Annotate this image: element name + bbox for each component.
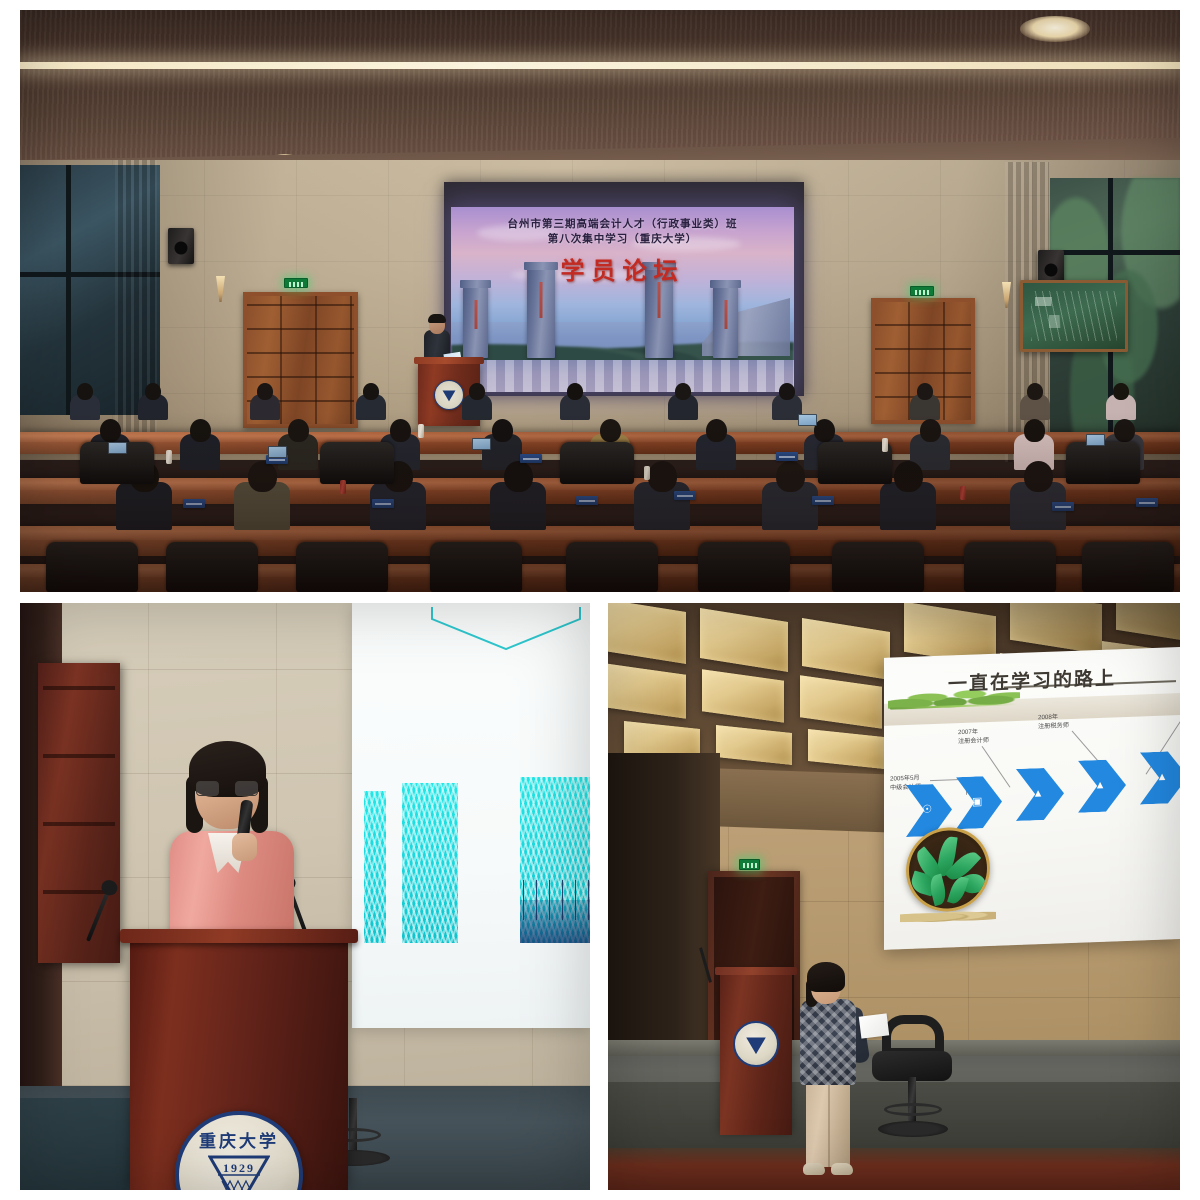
attendee-head xyxy=(1027,383,1043,400)
attendee-head xyxy=(648,461,677,492)
attendee-head xyxy=(190,419,211,442)
attendee-head xyxy=(600,419,621,442)
name-placard xyxy=(1052,502,1074,511)
panel-presenter-timeline-slide: 一直在学习的路上 2005年5月 中级会计师 2007年 注册会计师 2008年… xyxy=(608,603,1180,1190)
photo-collage: 台州市第三期高端会计人才（行政事业类）班 第八次集中学习（重庆大学） 学员论坛 xyxy=(0,0,1200,1200)
name-placard xyxy=(812,496,834,505)
seat[interactable] xyxy=(430,542,522,592)
attendee-head xyxy=(1114,419,1135,442)
carpet xyxy=(20,1098,138,1190)
water-bottle xyxy=(644,466,650,480)
ceiling-coffer xyxy=(716,725,792,765)
ceiling-coffer xyxy=(1116,603,1180,644)
chair-base xyxy=(878,1121,948,1137)
exit-sign-icon xyxy=(910,286,934,296)
door[interactable] xyxy=(38,663,120,963)
exit-sign-icon xyxy=(284,278,308,288)
attendee-head xyxy=(920,419,941,442)
presenter-legs xyxy=(806,1073,850,1167)
seat[interactable] xyxy=(296,542,388,592)
water-bottle xyxy=(960,486,966,500)
projection-screen[interactable] xyxy=(352,603,590,1028)
name-placard xyxy=(183,499,205,508)
slide-image-block xyxy=(402,783,458,943)
university-emblem-icon: 重庆大学 1929 CHONGQING UNIVERSITY xyxy=(175,1111,303,1190)
university-emblem-icon xyxy=(733,1021,779,1067)
attendee-head xyxy=(257,383,273,400)
timeline-projection-screen[interactable]: 一直在学习的路上 2005年5月 中级会计师 2007年 注册会计师 2008年… xyxy=(884,647,1180,950)
presenter-notes xyxy=(859,1013,889,1038)
attendee-head xyxy=(776,461,805,492)
slide-plaza xyxy=(451,360,794,392)
location-pin-icon: ☉ xyxy=(922,805,932,816)
seat[interactable] xyxy=(320,442,394,484)
ceiling-coffer xyxy=(608,663,686,719)
seat[interactable] xyxy=(964,542,1056,592)
podium: 重庆大学 1929 CHONGQING UNIVERSITY xyxy=(130,939,348,1190)
name-placard xyxy=(372,499,394,508)
laptop[interactable] xyxy=(472,438,491,450)
slide-title: 一直在学习的路上 xyxy=(884,661,1180,699)
attendee-head xyxy=(100,419,121,442)
attendee-head xyxy=(363,383,379,400)
gate-pillar xyxy=(463,286,488,358)
chalkboard-marks xyxy=(1029,289,1119,343)
seat[interactable] xyxy=(698,542,790,592)
attendee-head xyxy=(1113,383,1129,400)
name-placard xyxy=(1136,498,1158,507)
panel-lecture-hall-wide: 台州市第三期高端会计人才（行政事业类）班 第八次集中学习（重庆大学） 学员论坛 xyxy=(20,10,1180,592)
podium-top-surface xyxy=(120,929,358,943)
attendee-head xyxy=(917,383,933,400)
podium xyxy=(720,973,792,1135)
seat[interactable] xyxy=(832,542,924,592)
stage-front-trim xyxy=(608,1148,1180,1190)
glasses-icon xyxy=(196,781,258,796)
ceiling-coffer xyxy=(808,729,884,769)
exit-sign-icon xyxy=(739,859,760,870)
seat[interactable] xyxy=(566,542,658,592)
name-placard xyxy=(576,496,598,505)
attendee-head xyxy=(288,419,309,442)
chevron-outline-icon xyxy=(430,607,582,651)
attendee-head xyxy=(492,419,513,442)
attendee-head xyxy=(77,383,93,400)
ceiling-coffer xyxy=(802,618,890,680)
seat[interactable] xyxy=(166,542,258,592)
slide-image-block xyxy=(364,791,386,943)
ceiling-coffer xyxy=(702,669,784,723)
podium-top-surface xyxy=(715,967,797,975)
water-bottle xyxy=(418,424,424,438)
door-panel-lines xyxy=(43,668,115,958)
milestone-label-3: 2008年 注册税务师 xyxy=(1038,713,1069,732)
ceiling-coffer xyxy=(700,608,788,672)
medallion-ornament xyxy=(900,908,996,926)
leaf xyxy=(928,874,949,907)
graduation-cap-icon: ▲ xyxy=(1033,789,1044,800)
water-bottle xyxy=(166,450,172,464)
ceiling-coffer xyxy=(1010,603,1102,654)
seat[interactable] xyxy=(818,442,892,484)
screen-title-line2: 第八次集中学习（重庆大学） xyxy=(451,231,794,246)
attendee-head xyxy=(779,383,795,400)
window-mullion xyxy=(66,165,71,415)
attendee-head xyxy=(248,461,277,492)
attendee-head xyxy=(894,461,923,492)
wall-speaker-icon xyxy=(168,228,194,264)
attendee-head xyxy=(1024,419,1045,442)
slide-image-block xyxy=(520,777,590,943)
pillar-inscription xyxy=(658,282,661,318)
attendee-head xyxy=(504,461,533,492)
attendee-head xyxy=(1024,461,1053,492)
name-placard xyxy=(520,454,542,463)
chair-footring xyxy=(884,1103,942,1116)
pillar-inscription xyxy=(474,300,477,329)
screen-title-line1: 台州市第三期高端会计人才（行政事业类）班 xyxy=(451,216,794,231)
ceiling-coffer xyxy=(608,603,686,664)
bookmark-icon: ▣ xyxy=(972,797,982,808)
chalkboard xyxy=(1020,280,1128,352)
speaker-hand xyxy=(232,833,257,861)
attendee-head xyxy=(145,383,161,400)
presenter-shoes xyxy=(803,1163,853,1175)
seat[interactable] xyxy=(1082,542,1174,592)
seat[interactable] xyxy=(1066,442,1140,484)
presenter-hair xyxy=(807,962,845,992)
ceiling-downlight xyxy=(1020,16,1090,42)
pillar-inscription xyxy=(724,300,727,329)
panel-female-speaker-podium: 重庆大学 1929 CHONGQING UNIVERSITY xyxy=(20,603,590,1190)
gate-pillar xyxy=(713,286,738,358)
attendee-head xyxy=(706,419,727,442)
slide-photo-trees xyxy=(523,880,590,920)
name-placard xyxy=(674,491,696,500)
attendee-head xyxy=(814,419,835,442)
attendee-head xyxy=(469,383,485,400)
plaza-tiles xyxy=(451,360,794,392)
laptop[interactable] xyxy=(798,414,817,426)
led-projection-screen[interactable]: 台州市第三期高端会计人才（行政事业类）班 第八次集中学习（重庆大学） 学员论坛 xyxy=(451,207,794,392)
screen-headline: 学员论坛 xyxy=(451,251,794,286)
pillar-inscription xyxy=(540,282,543,318)
laptop[interactable] xyxy=(268,446,287,458)
university-emblem-icon xyxy=(434,380,464,410)
emblem-chinese-name: 重庆大学 xyxy=(179,1127,299,1152)
ceiling-light-strip xyxy=(20,62,1180,69)
laptop[interactable] xyxy=(1086,434,1105,446)
ceiling-coffer xyxy=(800,675,882,729)
attendee-head xyxy=(567,383,583,400)
water-bottle xyxy=(340,480,346,494)
graduation-cap-icon: ▲ xyxy=(1095,780,1106,791)
presenter-sweater xyxy=(800,999,856,1085)
timeline-arrow-3: ▲ xyxy=(1016,767,1064,821)
attendee-head xyxy=(675,383,691,400)
seat[interactable] xyxy=(560,442,634,484)
plant-medallion xyxy=(906,826,990,913)
laptop[interactable] xyxy=(108,442,127,454)
seat[interactable] xyxy=(46,542,138,592)
presenter-hair xyxy=(428,314,446,323)
milestone-credential: 注册税务师 xyxy=(1038,722,1069,732)
window-mullion xyxy=(1050,250,1180,255)
water-bottle xyxy=(882,438,888,452)
emblem-year: 1929 xyxy=(223,1161,255,1176)
attendee-head xyxy=(390,419,411,442)
podium-top-surface xyxy=(414,357,484,364)
name-placard xyxy=(776,452,798,461)
